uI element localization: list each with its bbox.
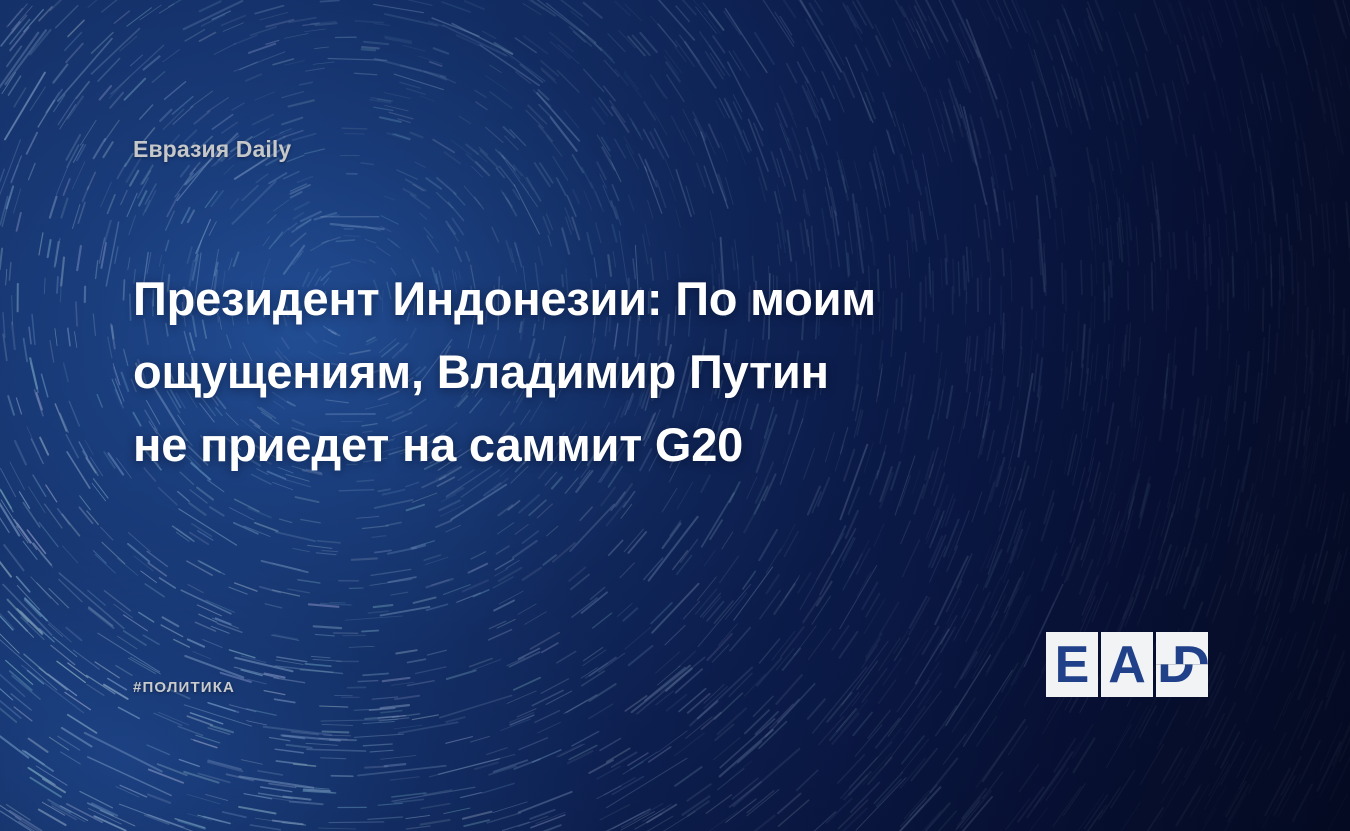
headline-line-2: ощущениям, Владимир Путин	[133, 335, 1093, 408]
logo-glitch-seam	[1156, 664, 1208, 665]
logo-letter-e: E	[1046, 632, 1098, 697]
headline-line-1: Президент Индонезии: По моим	[133, 262, 1093, 335]
logo-letter-d-bottom: D	[1156, 664, 1208, 697]
logo-letter-d-top: D	[1156, 632, 1208, 664]
card-content: Евразия Daily Президент Индонезии: По мо…	[0, 0, 1350, 831]
headline-line-3: не приедет на саммит G20	[133, 408, 1093, 481]
eadaily-logo[interactable]: E A D D	[1046, 632, 1208, 697]
logo-letter-a: A	[1101, 632, 1153, 697]
logo-tile-e: E	[1046, 632, 1098, 697]
logo-tile-d: D D	[1156, 632, 1208, 697]
category-tag-politics[interactable]: #ПОЛИТИКА	[133, 679, 235, 696]
logo-tile-a: A	[1101, 632, 1153, 697]
brand-name: Евразия Daily	[133, 136, 291, 164]
social-share-card: Евразия Daily Президент Индонезии: По мо…	[0, 0, 1350, 831]
page-title: Президент Индонезии: По моим ощущениям, …	[133, 262, 1093, 481]
